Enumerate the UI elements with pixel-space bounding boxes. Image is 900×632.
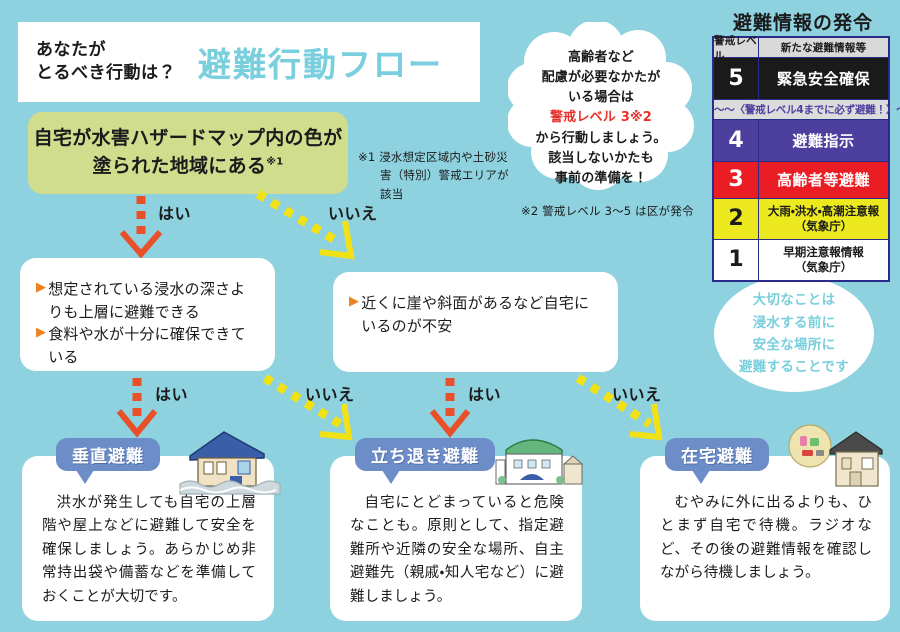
result-tag-evacuate-away: 立ち退き避難: [355, 438, 495, 471]
question-left-bullet-2-text: 食料や水が十分に確保できている: [48, 323, 259, 368]
yes-arrow-3-icon: [432, 378, 468, 433]
triangle-bullet-icon: ▶: [349, 292, 359, 313]
question-mid-bullet-1-text: 近くに崖や斜面があるなど自宅にいるのが不安: [361, 292, 602, 337]
warning-row-1-main: 早期注意報情報: [783, 245, 864, 259]
warning-table-header-row: 警戒レベル 新たな避難情報等: [714, 38, 888, 58]
warning-row-1-sub: （気象庁）: [795, 260, 853, 274]
result-tag-vertical-evacuation: 垂直避難: [56, 438, 160, 471]
triangle-bullet-icon: ▶: [36, 278, 46, 299]
warning-level-table: 警戒レベル 新たな避難情報等 5 緊急安全確保 〜〜〈警戒レベル4までに必ず避難…: [712, 36, 890, 282]
warning-table-banner: 〜〜〈警戒レベル4までに必ず避難！〉〜〜: [714, 100, 888, 120]
key-message-text: 大切なことは 浸水する前に 安全な場所に 避難することです: [739, 289, 849, 378]
arrow-label-yes-2: はい: [155, 381, 188, 405]
cloud-line-4: から行動しましょう。: [535, 131, 666, 146]
warning-row-5-label: 緊急安全確保: [759, 58, 888, 99]
elderly-notice-cloud: 高齢者など 配慮が必要なかたが いる場合は 警戒レベル 3※2 から行動しましょ…: [508, 22, 694, 194]
warning-row-2-level: 2: [714, 199, 759, 239]
warning-row-2-label: 大雨・洪水・高潮注意報 （気象庁）: [759, 199, 888, 239]
cloud-line-6: 事前の準備を！: [555, 171, 647, 186]
warning-row-3-label: 高齢者等避難: [759, 162, 888, 198]
warning-row-3-level: 3: [714, 162, 759, 198]
cloud-highlight-level: 警戒レベル 3※2: [550, 110, 652, 125]
warning-row-level-5: 5 緊急安全確保: [714, 58, 888, 100]
yes-arrow-1-icon: [122, 196, 160, 254]
house-with-supplies-illustration: [780, 424, 888, 496]
result-tag-3-label: 在宅避難: [681, 442, 753, 467]
warning-row-level-1: 1 早期注意報情報 （気象庁）: [714, 240, 888, 280]
flooded-house-illustration: [172, 424, 282, 496]
warning-row-4-label: 避難指示: [759, 120, 888, 161]
question-mid-bullet-1: ▶ 近くに崖や斜面があるなど自宅にいるのが不安: [349, 292, 602, 337]
warning-table-title: 避難情報の発令: [718, 8, 888, 35]
infographic-canvas: あなたが とるべき行動は？ 避難行動フロー 自宅が水害ハザードマップ内の色が塗ら…: [0, 0, 900, 632]
warning-table-header-level: 警戒レベル: [714, 38, 759, 57]
evacuation-shelter-illustration: [490, 424, 590, 494]
key-message-circle: 大切なことは 浸水する前に 安全な場所に 避難することです: [714, 276, 874, 392]
warning-row-1-label: 早期注意報情報 （気象庁）: [759, 240, 888, 280]
warning-table-header-info: 新たな避難情報等: [759, 38, 888, 57]
cloud-line-5: 該当しないかたも: [548, 151, 654, 166]
warning-row-2-sub: （気象庁）: [795, 219, 853, 233]
question-left-bullet-1: ▶ 想定されている浸水の深さよりも上層に避難できる: [36, 278, 259, 323]
arrow-label-no-3: いいえ: [612, 381, 662, 405]
warning-row-2-main: 大雨・洪水・高潮注意報: [768, 204, 879, 218]
result-body-2: 自宅にとどまっていると危険なことも。原則として、指定避難所や近隣の安全な場所、自…: [350, 492, 564, 609]
warning-row-1-level: 1: [714, 240, 759, 280]
arrow-label-yes-1: はい: [158, 200, 191, 224]
cloud-line-1: 高齢者など: [568, 50, 634, 65]
triangle-bullet-icon: ▶: [36, 323, 46, 344]
result-tag-stay-home: 在宅避難: [665, 438, 769, 471]
warning-row-level-4: 4 避難指示: [714, 120, 888, 162]
result-tag-2-tail-icon: [382, 470, 400, 484]
result-tag-1-label: 垂直避難: [72, 442, 144, 467]
warning-row-4-level: 4: [714, 120, 759, 161]
arrow-label-no-1: いいえ: [328, 200, 378, 224]
result-body-3: むやみに外に出るよりも、ひとまず自宅で待機。ラジオなど、その後の避難情報を確認し…: [660, 492, 872, 586]
warning-row-5-level: 5: [714, 58, 759, 99]
warning-row-level-3: 3 高齢者等避難: [714, 162, 888, 199]
cloud-line-3: いる場合は: [568, 90, 634, 105]
result-body-1: 洪水が発生しても自宅の上層階や屋上などに避難して安全を確保しましょう。あらかじめ…: [42, 492, 256, 609]
result-tag-1-tail-icon: [76, 470, 94, 484]
elderly-notice-text: 高齢者など 配慮が必要なかたが いる場合は 警戒レベル 3※2 から行動しましょ…: [516, 48, 686, 189]
question-left-bullet-2: ▶ 食料や水が十分に確保できている: [36, 323, 259, 368]
yes-arrow-2-icon: [119, 378, 155, 433]
arrow-label-no-2: いいえ: [305, 381, 355, 405]
cloud-line-2: 配慮が必要なかたが: [542, 70, 661, 85]
warning-row-level-2: 2 大雨・洪水・高潮注意報 （気象庁）: [714, 199, 888, 240]
result-tag-2-label: 立ち退き避難: [371, 442, 479, 467]
result-tag-3-tail-icon: [692, 470, 710, 484]
arrow-label-yes-3: はい: [468, 381, 501, 405]
question-left-bullet-1-text: 想定されている浸水の深さよりも上層に避難できる: [48, 278, 259, 323]
question-mid-box: ▶ 近くに崖や斜面があるなど自宅にいるのが不安: [333, 272, 618, 372]
question-left-box: ▶ 想定されている浸水の深さよりも上層に避難できる ▶ 食料や水が十分に確保でき…: [20, 258, 275, 371]
